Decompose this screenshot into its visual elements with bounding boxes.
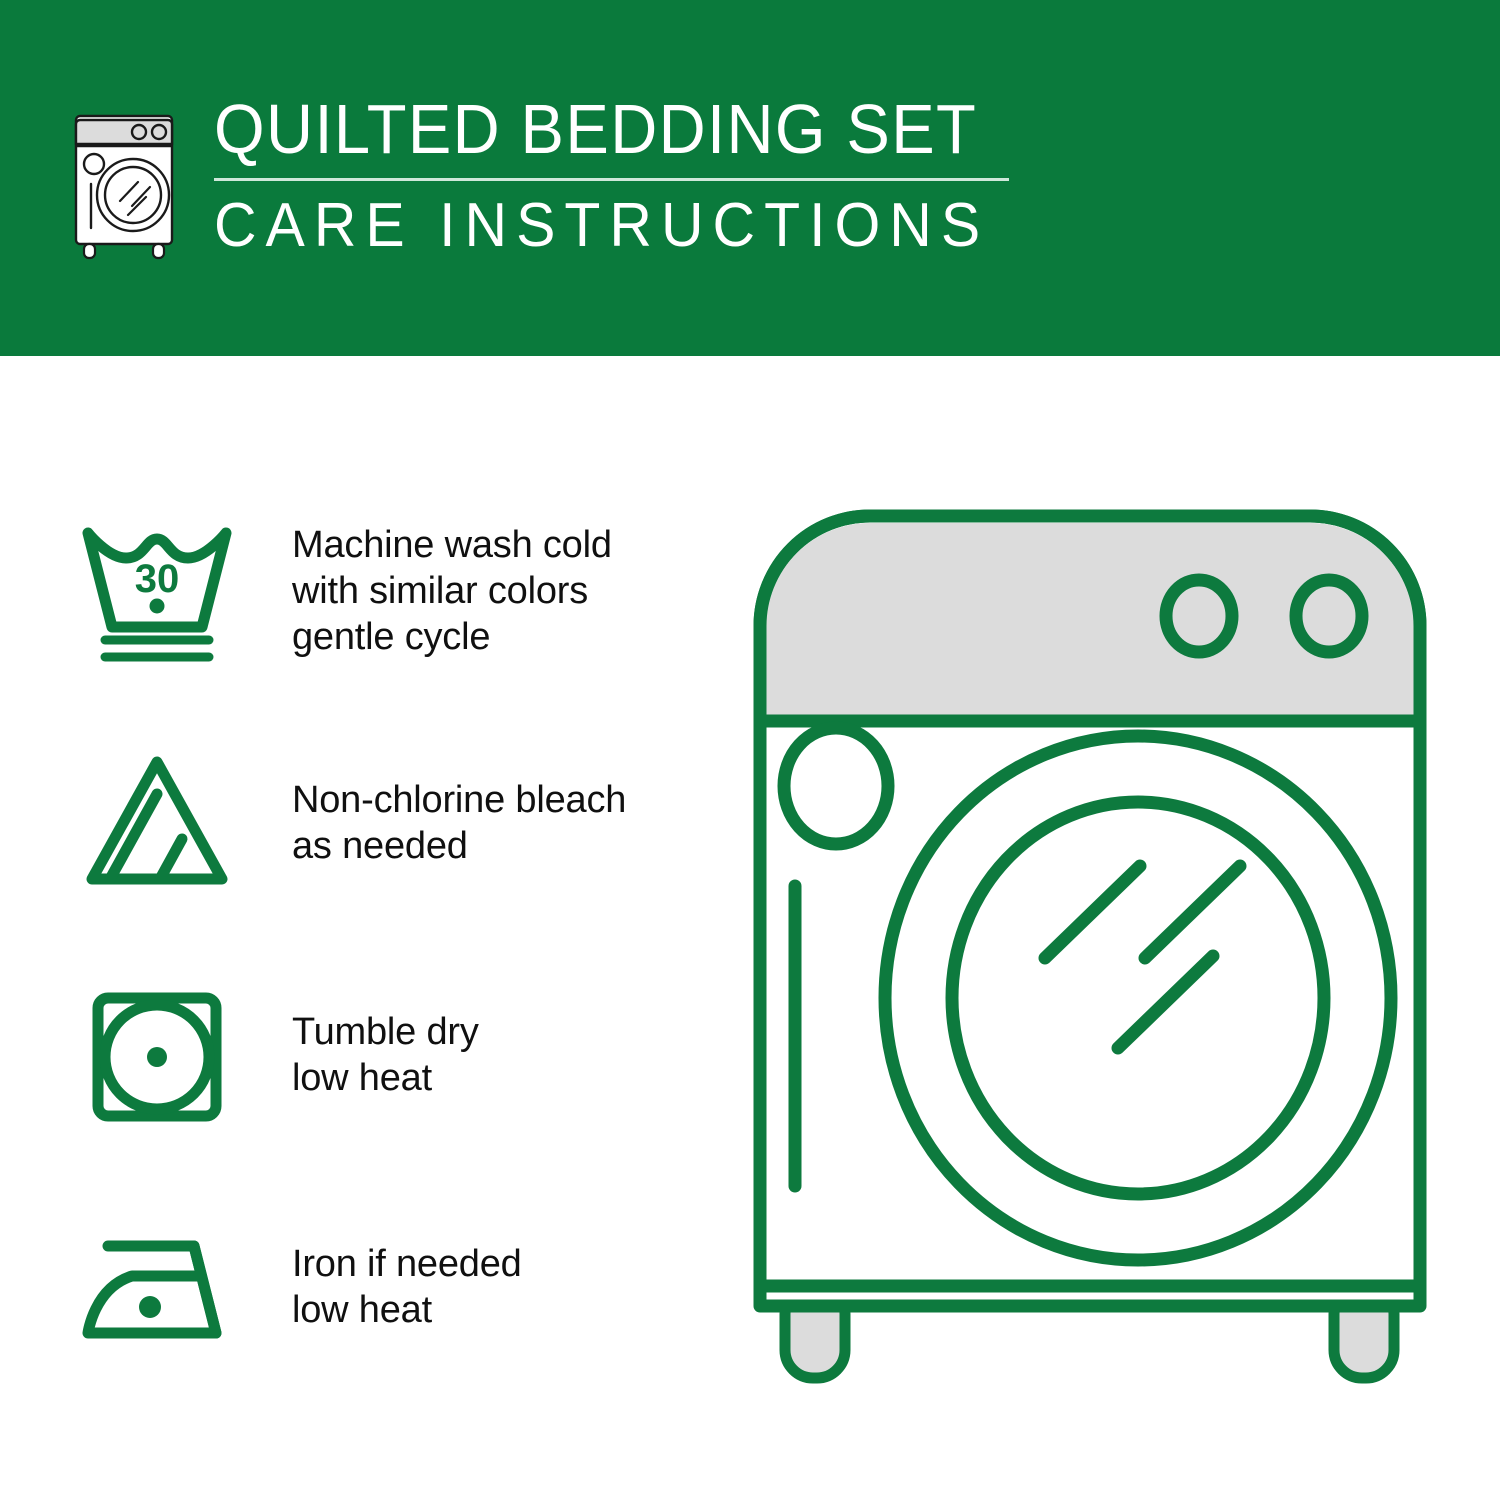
care-row-wash: 30 Machine wash cold with similar colors… <box>72 506 712 676</box>
title-divider <box>214 178 1009 181</box>
care-row-tumble-dry: Tumble dry low heat <box>72 970 712 1140</box>
care-line: as needed <box>292 823 626 869</box>
care-line: with similar colors <box>292 568 612 614</box>
header-banner: QUILTED BEDDING SET CARE INSTRUCTIONS <box>0 0 1500 356</box>
page-title: QUILTED BEDDING SET <box>214 92 977 166</box>
header-title-block: QUILTED BEDDING SET CARE INSTRUCTIONS <box>214 92 1035 261</box>
wash-temperature-label: 30 <box>135 557 180 601</box>
header-content: QUILTED BEDDING SET CARE INSTRUCTIONS <box>62 92 1035 263</box>
washing-machine-logo-icon <box>62 98 192 263</box>
front-load-washing-machine-illustration <box>740 486 1460 1426</box>
care-text-tumble-dry: Tumble dry low heat <box>292 1009 479 1101</box>
care-line: low heat <box>292 1055 479 1101</box>
care-text-iron: Iron if needed low heat <box>292 1241 522 1333</box>
care-text-bleach: Non-chlorine bleach as needed <box>292 777 626 869</box>
iron-low-heat-icon <box>72 1202 242 1372</box>
non-chlorine-bleach-triangle-icon <box>72 738 242 908</box>
care-line: Non-chlorine bleach <box>292 777 626 823</box>
care-line: gentle cycle <box>292 614 612 660</box>
care-line: low heat <box>292 1287 522 1333</box>
page-subtitle: CARE INSTRUCTIONS <box>214 191 994 261</box>
tumble-dry-low-icon <box>72 970 242 1140</box>
care-row-bleach: Non-chlorine bleach as needed <box>72 738 712 908</box>
care-line: Tumble dry <box>292 1009 479 1055</box>
care-line: Machine wash cold <box>292 522 612 568</box>
care-instruction-list: 30 Machine wash cold with similar colors… <box>72 506 712 1372</box>
wash-tub-30-icon: 30 <box>72 506 242 676</box>
care-text-wash: Machine wash cold with similar colors ge… <box>292 522 612 660</box>
care-line: Iron if needed <box>292 1241 522 1287</box>
content-area: 30 Machine wash cold with similar colors… <box>0 356 1500 1500</box>
care-row-iron: Iron if needed low heat <box>72 1202 712 1372</box>
